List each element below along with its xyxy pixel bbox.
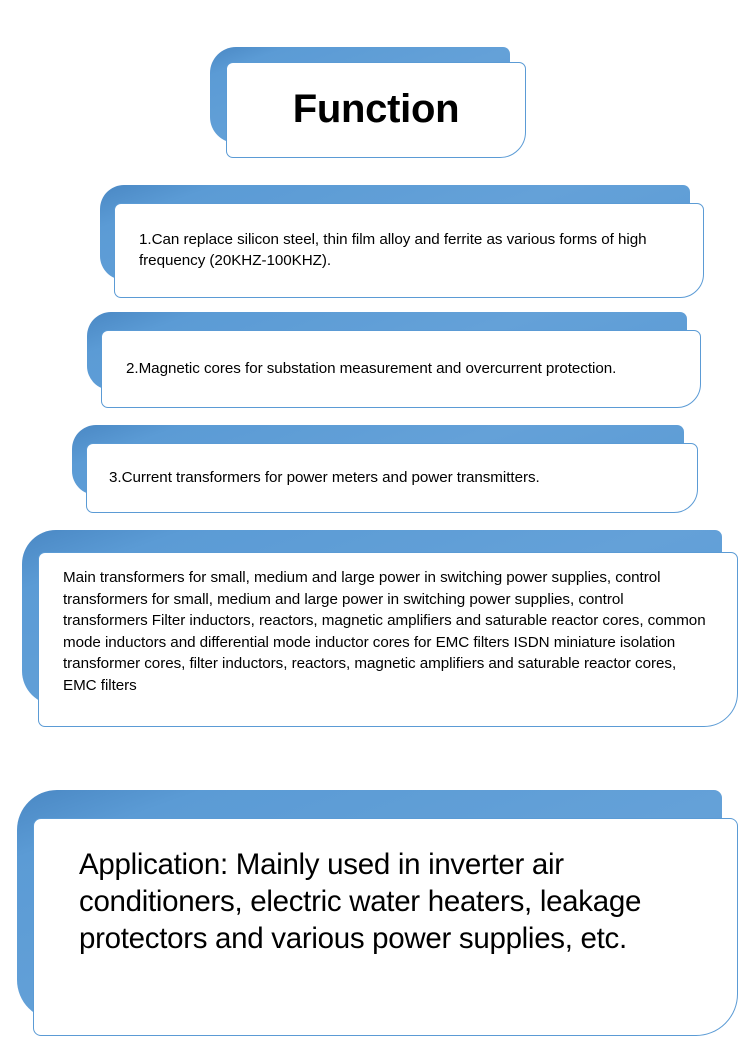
item-1-panel: 1.Can replace silicon steel, thin film a… [114, 203, 704, 298]
application-card-text: Application: Mainly used in inverter air… [34, 819, 737, 957]
item-2-panel: 2.Magnetic cores for substation measurem… [101, 330, 701, 408]
title-card-panel: Function [226, 62, 526, 158]
detail-card-panel: Main transformers for small, medium and … [38, 552, 738, 727]
item-3-text: 3.Current transformers for power meters … [87, 468, 697, 488]
page-title: Function [227, 89, 525, 132]
application-card-panel: Application: Mainly used in inverter air… [33, 818, 738, 1036]
item-1-text: 1.Can replace silicon steel, thin film a… [115, 230, 703, 270]
infographic-slide: Function 1.Can replace silicon steel, th… [0, 0, 750, 1044]
item-3-panel: 3.Current transformers for power meters … [86, 443, 698, 513]
detail-card-text: Main transformers for small, medium and … [39, 553, 737, 696]
item-2-text: 2.Magnetic cores for substation measurem… [102, 359, 700, 379]
